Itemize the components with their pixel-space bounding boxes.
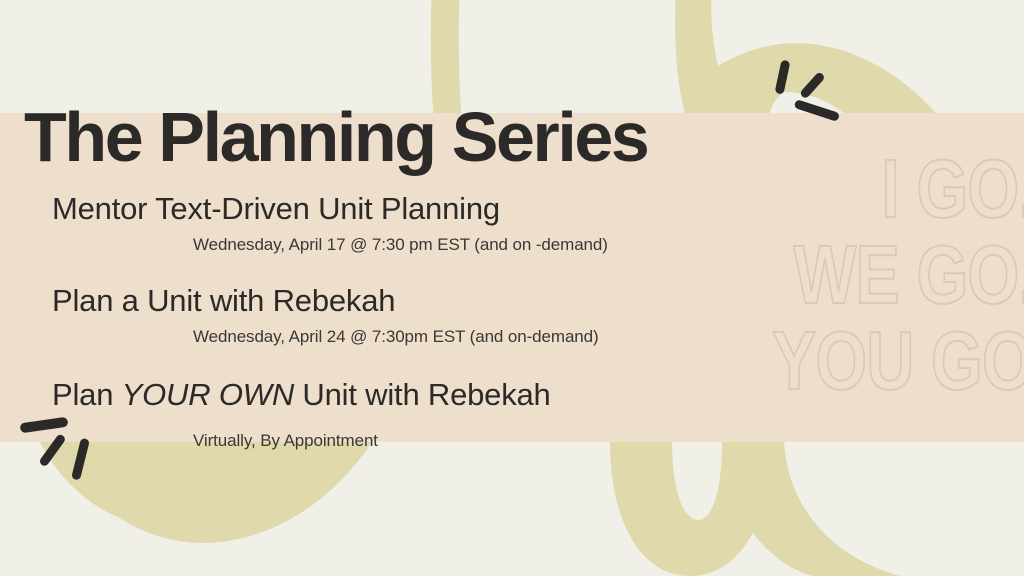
sparkle-icon-top bbox=[752, 60, 842, 130]
session-item: Plan a Unit with Rebekah Wednesday, Apri… bbox=[0, 281, 700, 349]
page-title: The Planning Series bbox=[0, 95, 700, 179]
session-title-3: Plan YOUR OWN Unit with Rebekah bbox=[52, 375, 700, 415]
session-title-1: Mentor Text-Driven Unit Planning bbox=[52, 189, 700, 229]
session-item: Plan YOUR OWN Unit with Rebekah Virtuall… bbox=[0, 375, 700, 453]
session-title-3-before: Plan bbox=[52, 377, 122, 412]
session-item: Mentor Text-Driven Unit Planning Wednesd… bbox=[0, 189, 700, 257]
session-title-2: Plan a Unit with Rebekah bbox=[52, 281, 700, 321]
session-meta-2: Wednesday, April 24 @ 7:30pm EST (and on… bbox=[52, 325, 700, 349]
session-title-3-emphasis: YOUR OWN bbox=[122, 377, 294, 412]
session-meta-3: Virtually, By Appointment bbox=[52, 429, 700, 453]
session-meta-1: Wednesday, April 17 @ 7:30 pm EST (and o… bbox=[52, 233, 700, 257]
text-column: The Planning Series Mentor Text-Driven U… bbox=[0, 95, 700, 453]
planning-series-poster: I GO. WE GO. YOU GO. The Planning Series… bbox=[0, 0, 1024, 576]
session-title-3-after: Unit with Rebekah bbox=[294, 377, 551, 412]
